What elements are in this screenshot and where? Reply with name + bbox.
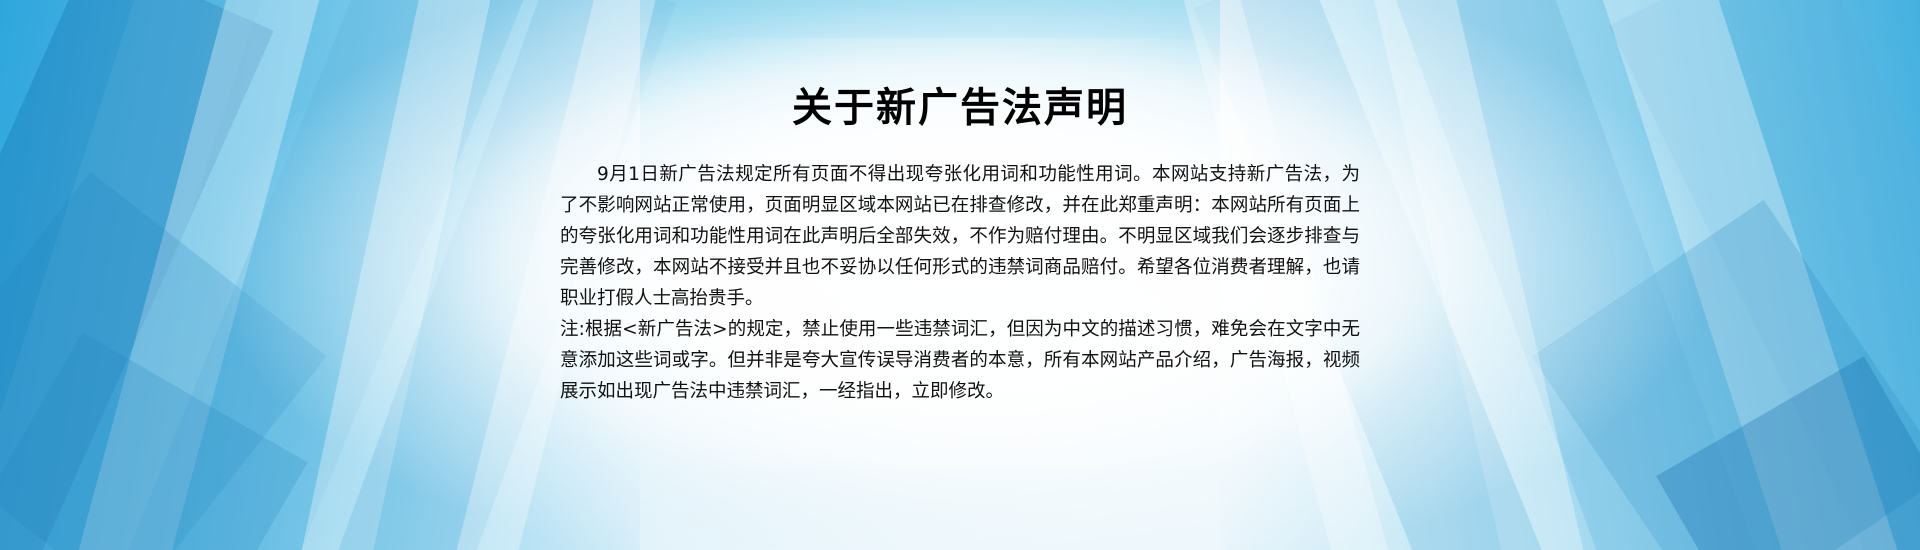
statement-paragraph: 9月1日新广告法规定所有页面不得出现夸张化用词和功能性用词。本网站支持新广告法，… bbox=[560, 159, 1360, 314]
page-title: 关于新广告法声明 bbox=[0, 84, 1920, 132]
statement-body: 9月1日新广告法规定所有页面不得出现夸张化用词和功能性用词。本网站支持新广告法，… bbox=[560, 159, 1360, 407]
advertising-law-statement-banner: 关于新广告法声明 9月1日新广告法规定所有页面不得出现夸张化用词和功能性用词。本… bbox=[0, 0, 1920, 550]
banner-content: 关于新广告法声明 9月1日新广告法规定所有页面不得出现夸张化用词和功能性用词。本… bbox=[0, 0, 1920, 407]
note-paragraph: 注:根据<新广告法>的规定，禁止使用一些违禁词汇，但因为中文的描述习惯，难免会在… bbox=[560, 314, 1360, 407]
